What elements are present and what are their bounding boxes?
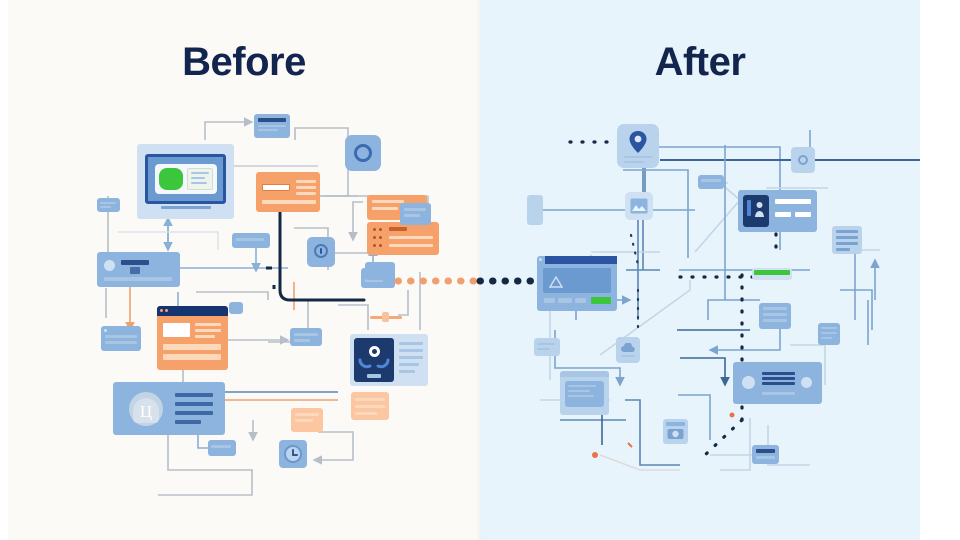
screen-content xyxy=(155,164,217,194)
primary-app-window[interactable] xyxy=(537,256,617,311)
comparison-diagram: Before xyxy=(0,0,960,540)
map-pin-icon xyxy=(628,130,648,154)
location-pin-tile[interactable] xyxy=(617,124,659,168)
panel-divider xyxy=(478,0,481,540)
before-panel: Before xyxy=(8,0,480,540)
cloud-sync-tile[interactable] xyxy=(616,337,640,363)
note-card-bottom[interactable] xyxy=(291,408,323,432)
robot-face-tile xyxy=(354,338,394,382)
robot-arms-icon xyxy=(358,358,390,372)
checklist-card-body[interactable] xyxy=(367,222,439,255)
player-knob-left-icon xyxy=(742,376,755,389)
settings-tile[interactable] xyxy=(791,147,815,173)
primary-action-button[interactable] xyxy=(591,297,611,304)
side-chip-left[interactable] xyxy=(97,198,120,212)
display-monitor-card[interactable] xyxy=(137,144,234,219)
plane-icon xyxy=(370,312,402,322)
camera-lens-tile[interactable] xyxy=(345,135,381,171)
mid-chip[interactable] xyxy=(232,233,270,248)
badge-photo xyxy=(743,195,769,227)
avatar-circle-icon xyxy=(104,260,115,271)
small-left-chip[interactable] xyxy=(534,338,560,356)
note-chip-left[interactable] xyxy=(101,326,141,351)
monitor-stand xyxy=(161,206,211,209)
profile-row-card[interactable] xyxy=(97,252,180,287)
thumbnail-card[interactable] xyxy=(560,371,609,415)
green-play-blob xyxy=(159,168,183,190)
side-chip-right[interactable] xyxy=(400,203,431,225)
camera-tile[interactable] xyxy=(663,419,688,444)
before-panel-title: Before xyxy=(8,40,480,85)
player-knob-right-icon xyxy=(801,377,812,388)
avatar-profile-card[interactable]: Ц xyxy=(113,382,225,435)
top-right-chip[interactable] xyxy=(365,262,395,280)
image-icon xyxy=(630,198,648,214)
window-canvas xyxy=(543,268,611,293)
camera-body-icon xyxy=(667,428,684,440)
media-player-card[interactable] xyxy=(733,362,822,404)
screen-panel xyxy=(187,168,213,190)
document-card[interactable] xyxy=(832,226,862,254)
robot-avatar-card[interactable] xyxy=(350,334,428,386)
clock-tile[interactable] xyxy=(279,440,307,468)
form-card[interactable] xyxy=(256,172,320,212)
upper-chip[interactable] xyxy=(290,328,322,346)
small-right-card[interactable] xyxy=(818,323,840,345)
after-panel-title: After xyxy=(480,40,920,85)
list-chip[interactable] xyxy=(698,175,724,189)
after-panel: After xyxy=(480,0,920,540)
monitor-screen-frame xyxy=(145,154,226,204)
mid-top-chip[interactable] xyxy=(229,302,243,314)
image-thumb-tile[interactable] xyxy=(625,192,653,220)
status-bar-card[interactable] xyxy=(752,268,792,280)
id-badge-card[interactable] xyxy=(738,190,817,232)
browser-window-card[interactable] xyxy=(157,306,228,370)
camera-ring-icon xyxy=(354,144,372,162)
bottom-right-chip[interactable] xyxy=(752,445,779,464)
header-chip[interactable] xyxy=(254,114,290,138)
left-side-chip[interactable] xyxy=(527,195,543,225)
gauge-dial-tile[interactable] xyxy=(307,237,335,267)
svg-text:Ц: Ц xyxy=(140,402,152,421)
window-titlebar xyxy=(545,256,617,264)
user-avatar-icon: Ц xyxy=(125,389,167,429)
thumb-body xyxy=(565,381,604,407)
thumb-titlebar xyxy=(560,371,609,377)
cloud-icon xyxy=(620,343,636,353)
bottom-chip[interactable] xyxy=(208,440,236,456)
badge-person-icon xyxy=(754,201,765,219)
gear-icon xyxy=(798,155,808,165)
triangle-logo-icon xyxy=(549,276,563,288)
doc-list-card[interactable] xyxy=(759,303,791,329)
note-card-right[interactable] xyxy=(351,392,389,420)
